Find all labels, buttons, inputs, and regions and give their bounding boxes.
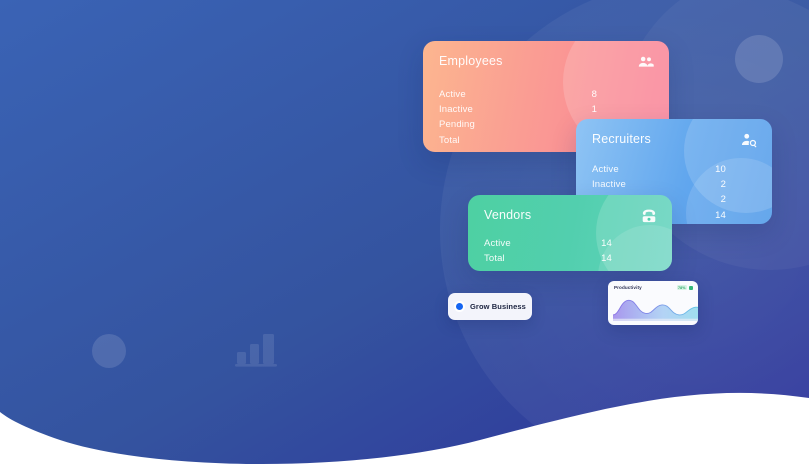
row-label: Active [439, 87, 466, 102]
productivity-widget[interactable]: Productivity 78% [608, 281, 698, 325]
telephone-icon [640, 207, 658, 225]
row-label: Pending [439, 117, 475, 132]
grow-business-label: Grow Business [470, 302, 526, 311]
wave-area-chart-icon [613, 295, 698, 321]
productivity-badge: 78% [677, 285, 688, 290]
row-value: 2 [721, 177, 756, 192]
card-row: Inactive 1 [439, 102, 653, 117]
card-vendors[interactable]: Vendors Active 14 Total 14 [468, 195, 672, 271]
dashboard-illustration: Employees Active 8 Inactive 1 Pending To… [0, 0, 809, 472]
user-search-icon [740, 131, 758, 149]
card-row: Active 14 [484, 236, 656, 251]
bar-chart-icon [233, 330, 281, 368]
row-label: Inactive [592, 177, 626, 192]
card-title-recruiters: Recruiters [592, 132, 651, 146]
row-value: 1 [592, 102, 653, 117]
row-value: 14 [601, 251, 656, 266]
row-value: 8 [592, 87, 653, 102]
row-value: 10 [715, 162, 756, 177]
row-label: Total [484, 251, 505, 266]
productivity-title: Productivity [614, 285, 642, 290]
row-value: 14 [715, 208, 756, 223]
row-label: Inactive [439, 102, 473, 117]
row-label: Active [484, 236, 511, 251]
card-row: Total 14 [484, 251, 656, 266]
row-value: 2 [721, 192, 756, 207]
status-dot-icon [454, 301, 465, 312]
status-indicator-icon [689, 286, 693, 290]
card-row: Active 10 [592, 162, 756, 177]
people-group-icon [637, 53, 655, 71]
background-blob [0, 0, 809, 472]
grow-business-button[interactable]: Grow Business [448, 293, 532, 320]
card-title-employees: Employees [439, 54, 503, 68]
card-title-vendors: Vendors [484, 208, 531, 222]
card-row: Inactive 2 [592, 177, 756, 192]
card-row: Active 8 [439, 87, 653, 102]
row-value: 14 [601, 236, 656, 251]
row-label: Total [439, 133, 460, 148]
card-rows-vendors: Active 14 Total 14 [484, 236, 656, 266]
row-label: Active [592, 162, 619, 177]
